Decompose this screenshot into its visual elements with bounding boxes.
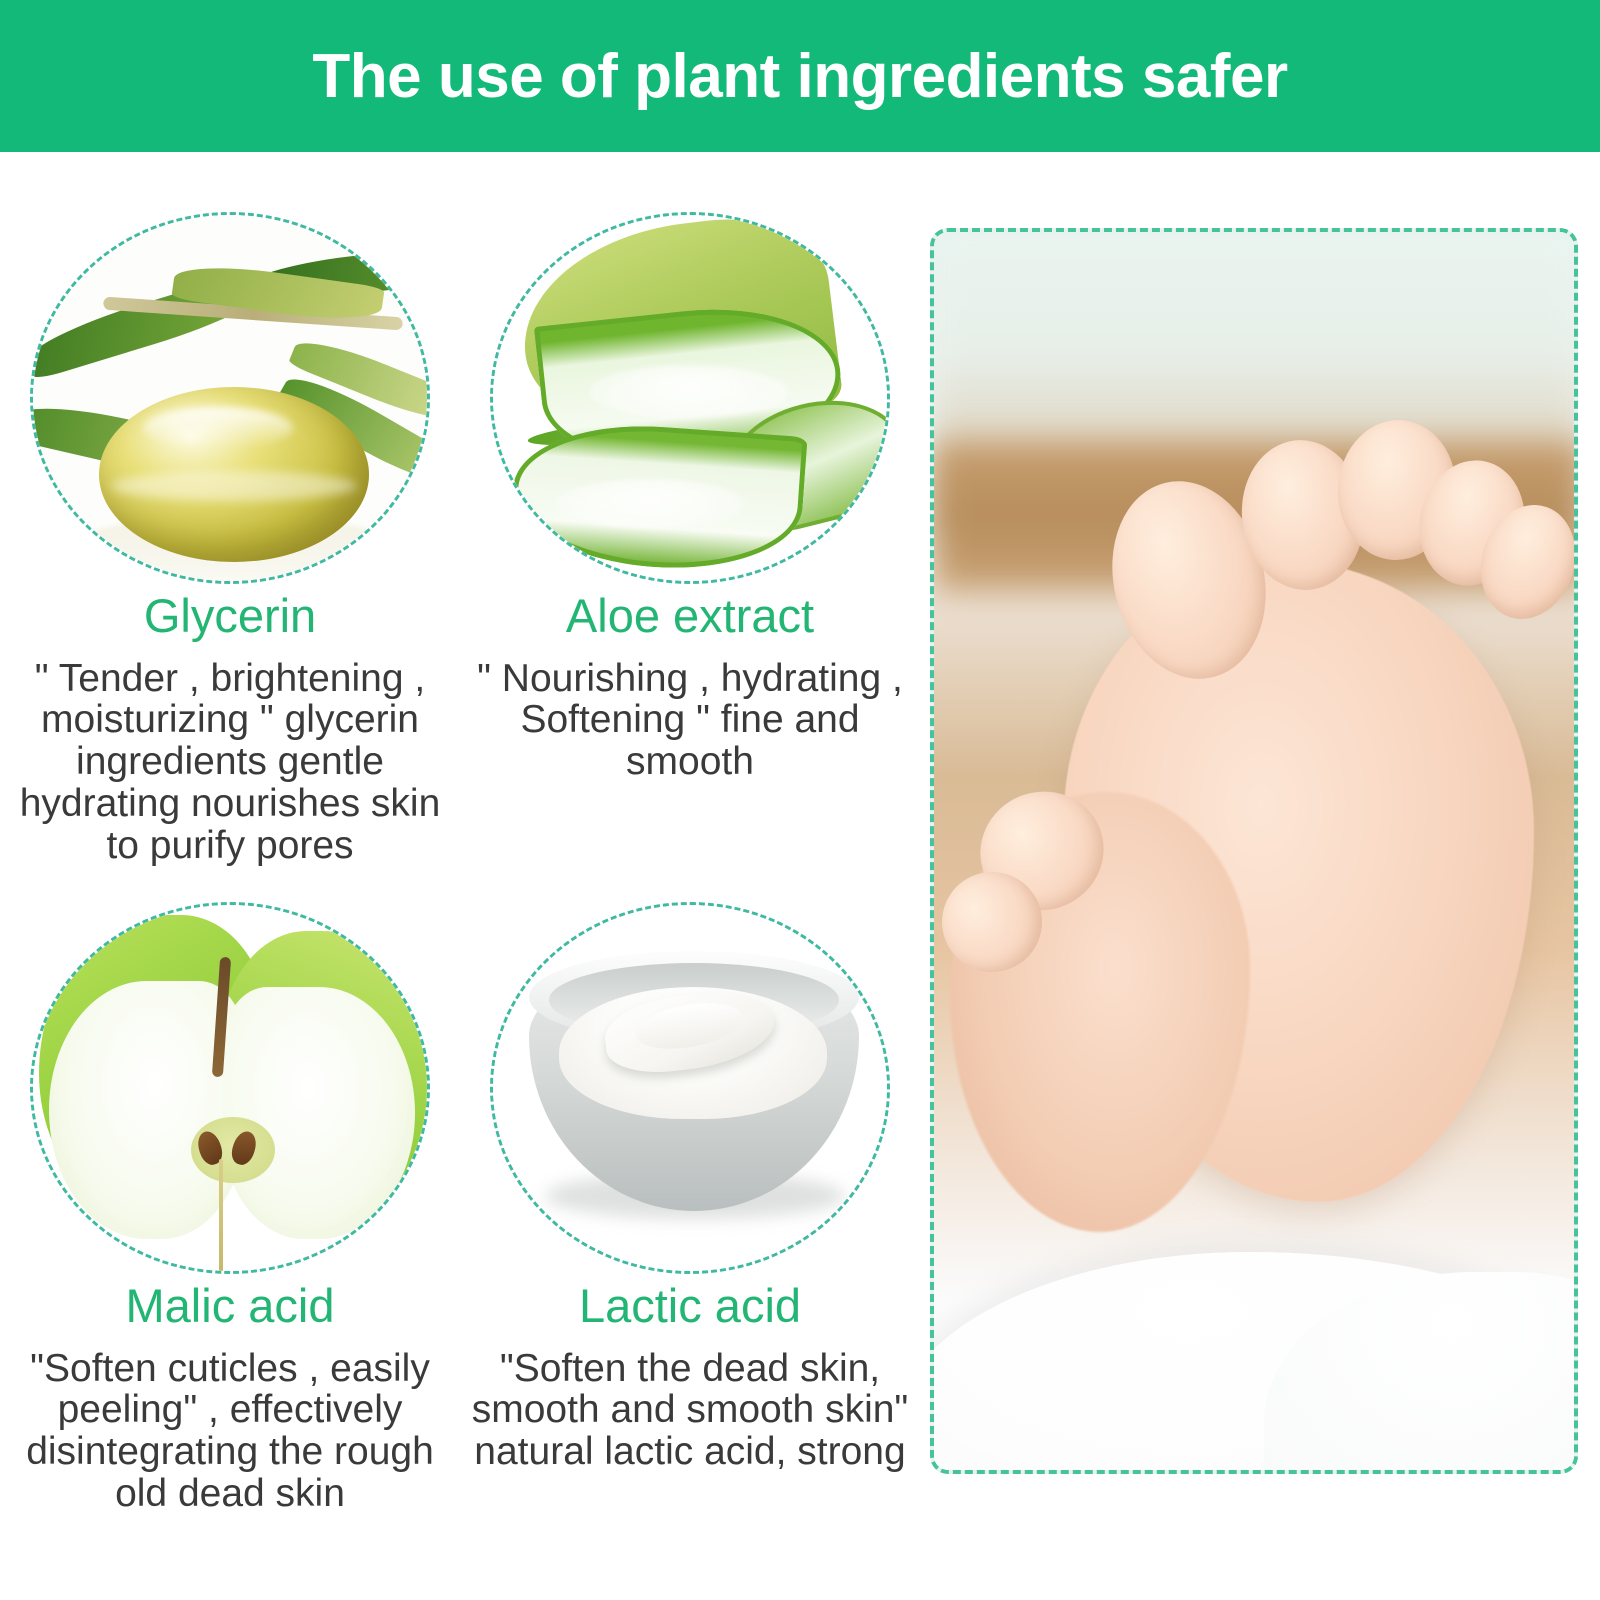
olive-sheen <box>111 471 357 501</box>
ingredient-card-lactic-acid: Lactic acid "Soften the dead skin, smoot… <box>460 902 920 1473</box>
bare-feet-photo <box>934 232 1574 1470</box>
ingredient-card-aloe-extract: Aloe extract " Nourishing , hydrating , … <box>460 212 920 783</box>
aloe-gel <box>555 479 745 529</box>
header-banner: The use of plant ingredients safer <box>0 0 1600 152</box>
cream-bowl-photo <box>490 902 890 1274</box>
ingredient-description: "Soften cuticles , easily peeling" , eff… <box>0 1348 460 1515</box>
ingredient-description: "Soften the dead skin, smooth and smooth… <box>460 1348 920 1473</box>
page-title: The use of plant ingredients safer <box>312 41 1287 112</box>
bare-feet-photo-panel <box>930 228 1578 1474</box>
green-apple-photo <box>30 902 430 1274</box>
ingredient-name: Glycerin <box>0 590 460 642</box>
aloe-photo-canvas <box>493 215 887 581</box>
ingredient-name: Malic acid <box>0 1280 460 1332</box>
olive-photo-canvas <box>33 215 427 581</box>
ingredient-name: Aloe extract <box>460 590 920 642</box>
olive-photo <box>30 212 430 584</box>
aloe-gel <box>589 365 789 419</box>
olive-highlight <box>143 407 293 449</box>
cream-photo-canvas <box>493 905 887 1271</box>
ingredients-grid: Glycerin " Tender , brightening , moistu… <box>0 152 920 1600</box>
ingredient-card-glycerin: Glycerin " Tender , brightening , moistu… <box>0 212 460 866</box>
apple-photo-canvas <box>33 905 427 1271</box>
ingredient-card-malic-acid: Malic acid "Soften cuticles , easily pee… <box>0 902 460 1515</box>
ingredient-description: " Tender , brightening , moisturizing " … <box>0 658 460 867</box>
apple-core-line <box>219 1159 223 1274</box>
apple-flesh <box>223 987 415 1239</box>
ingredient-name: Lactic acid <box>460 1280 920 1332</box>
ingredient-description: " Nourishing , hydrating , Softening " f… <box>460 658 920 783</box>
aloe-vera-photo <box>490 212 890 584</box>
